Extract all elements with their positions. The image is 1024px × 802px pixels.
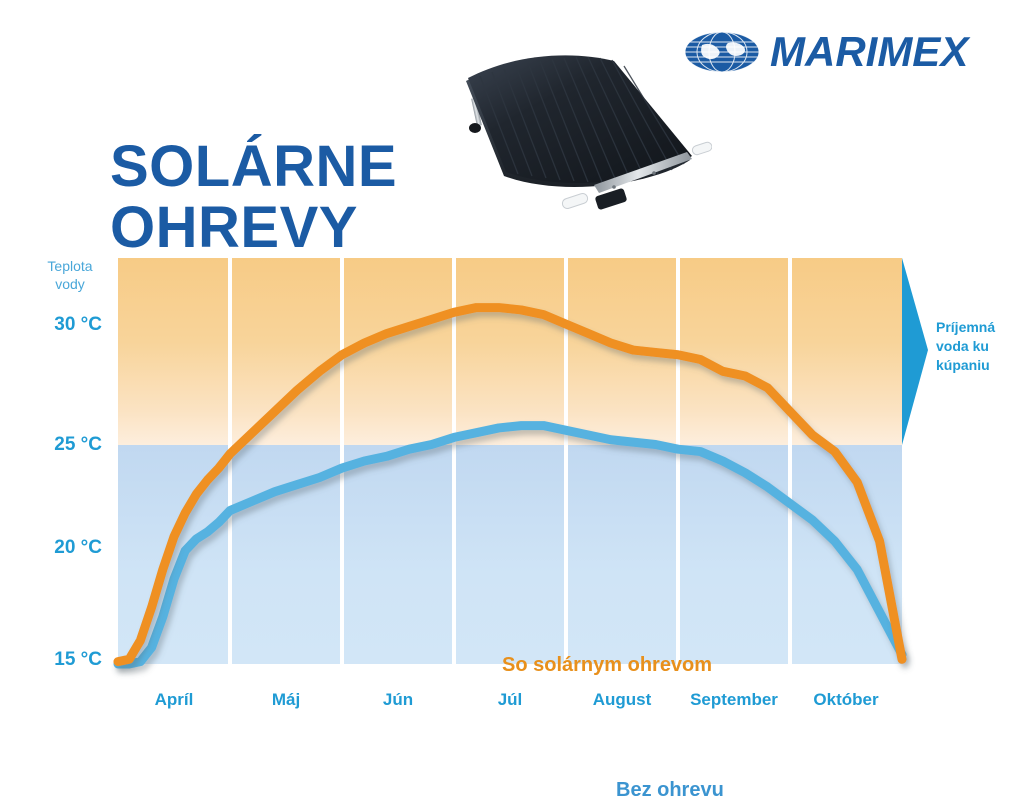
page-title-line1: SOLÁRNE — [110, 134, 397, 199]
comfort-annotation: Príjemná voda ku kúpaniu — [936, 318, 1022, 375]
infographic-root: SOLÁRNE OHREVY — [0, 0, 1024, 753]
y-tick-25: 25 °C — [26, 434, 102, 456]
globe-icon — [684, 31, 760, 73]
x-tick-august: August — [593, 690, 652, 710]
comfort-annotation-l3: kúpaniu — [936, 357, 990, 373]
series-line-so-solarnym-ohrevom — [118, 308, 902, 662]
comfort-annotation-l2: voda ku — [936, 338, 989, 354]
series-label-plain: Bez ohrevu — [616, 779, 724, 802]
solar-panel-image — [444, 48, 712, 234]
chart-plot-area: So solárnym ohrevom Bez ohrevu — [118, 258, 902, 664]
page-title-line2: OHREVY — [110, 198, 397, 259]
series-label-solar: So solárnym ohrevom — [502, 654, 712, 677]
series-lines — [118, 258, 902, 664]
series-line-bez-ohrevu — [118, 426, 902, 664]
brand-name: MARIMEX — [770, 31, 968, 73]
x-tick-jul: Júl — [498, 690, 523, 710]
x-tick-maj: Máj — [272, 690, 300, 710]
x-tick-september: September — [690, 690, 778, 710]
y-tick-15: 15 °C — [26, 649, 102, 671]
y-tick-30: 30 °C — [26, 314, 102, 336]
x-tick-april: Apríl — [155, 690, 194, 710]
right-arrow-icon — [900, 258, 930, 445]
brand-logo: MARIMEX — [684, 24, 994, 80]
x-tick-jun: Jún — [383, 690, 413, 710]
comfort-annotation-l1: Príjemná — [936, 319, 995, 335]
y-tick-20: 20 °C — [26, 537, 102, 559]
y-axis-title: Teplotavody — [30, 258, 110, 293]
x-tick-oktober: Október — [813, 690, 878, 710]
